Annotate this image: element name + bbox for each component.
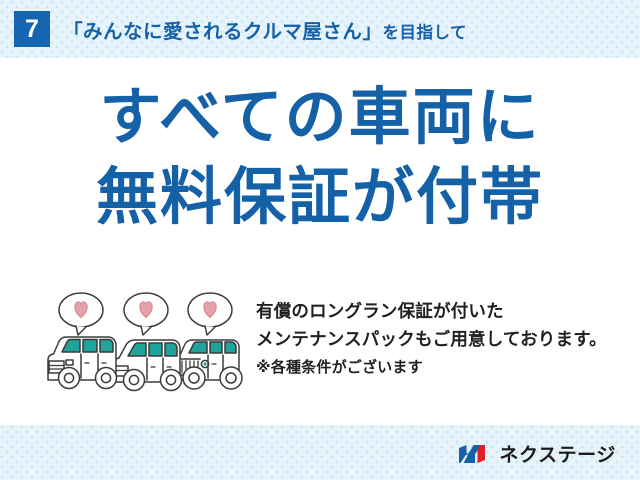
header-band: 7 「みんなに愛されるクルマ屋さん」を目指して <box>0 0 640 58</box>
header-title: 「みんなに愛されるクルマ屋さん」を目指して <box>63 15 467 44</box>
heart-bubble-3 <box>188 293 232 335</box>
content-row: 有償のロングラン保証が付いた メンテナンスパックもご用意しております。 ※各種条… <box>0 288 640 408</box>
heart-bubble-1 <box>59 293 103 335</box>
section-number-badge: 7 <box>14 11 50 47</box>
cars-illustration-svg <box>42 288 252 398</box>
description-block: 有償のロングラン保証が付いた メンテナンスパックもご用意しております。 ※各種条… <box>256 298 632 379</box>
header-title-suffix: を目指して <box>382 23 467 42</box>
hero-headline: すべての車両に 無料保証が付帯 <box>0 86 640 228</box>
footer-band: ネクステージ <box>0 425 640 480</box>
car-minivan <box>48 337 117 389</box>
description-note: ※各種条件がございます <box>256 356 632 379</box>
hero-line-1: すべての車両に <box>0 86 640 148</box>
hero-line-2: 無料保証が付帯 <box>0 166 640 228</box>
car-suv <box>175 340 242 389</box>
header-title-quote-open: 「 <box>63 20 83 43</box>
brand-logo-text: ネクステージ <box>499 440 616 467</box>
brand-logo: ネクステージ <box>458 440 616 467</box>
header-title-quote-close: 」 <box>362 20 382 43</box>
cars-illustration <box>42 288 252 398</box>
car-tall-wagon <box>114 340 182 391</box>
heart-bubble-2 <box>124 293 168 335</box>
header-title-main: みんなに愛されるクルマ屋さん <box>83 20 362 43</box>
description-line-2: メンテナンスパックもご用意しております。 <box>256 326 632 354</box>
description-line-1: 有償のロングラン保証が付いた <box>256 298 632 326</box>
poster-root: 7 「みんなに愛されるクルマ屋さん」を目指して すべての車両に 無料保証が付帯 <box>0 0 640 480</box>
nextage-n-logo-icon <box>458 443 492 465</box>
